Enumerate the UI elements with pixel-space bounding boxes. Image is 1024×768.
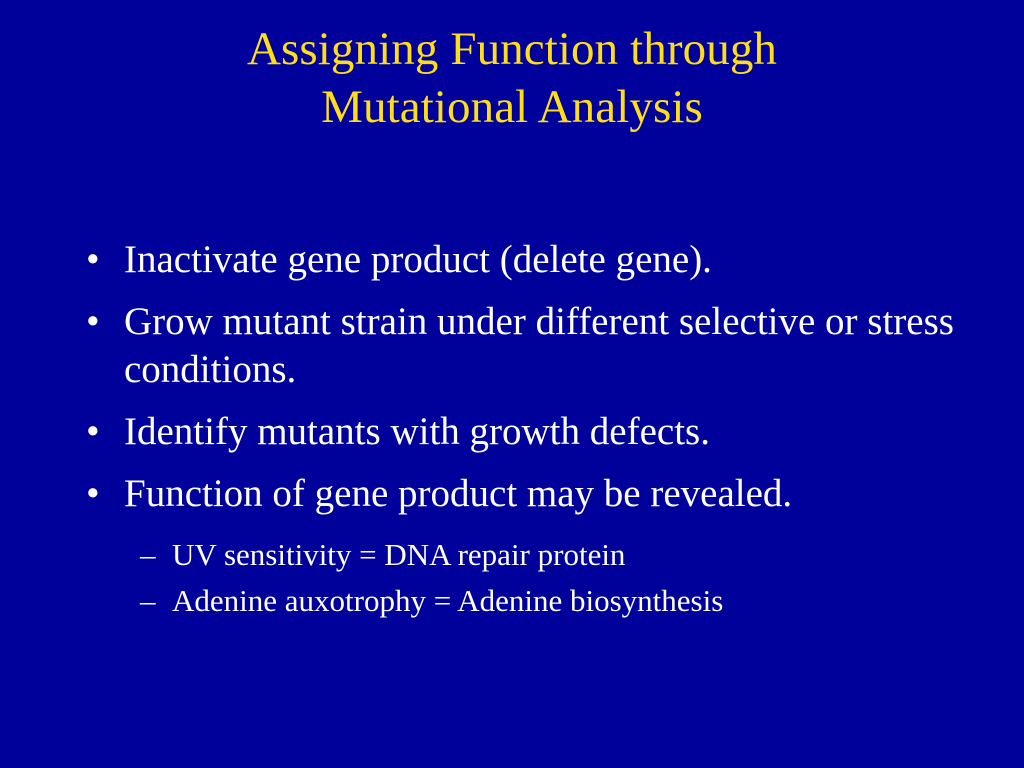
slide-body-content: • Inactivate gene product (delete gene).… <box>80 236 960 624</box>
bullet-dot-icon: • <box>86 470 112 518</box>
dash-icon: – <box>140 532 166 578</box>
bullet-text: Inactivate gene product (delete gene). <box>124 236 960 284</box>
bullet-dot-icon: • <box>86 236 112 284</box>
dash-icon: – <box>140 578 166 624</box>
bullet-text: Grow mutant strain under different selec… <box>124 298 960 394</box>
subbullet-text: Adenine auxotrophy = Adenine biosynthesi… <box>172 578 960 624</box>
bullet-item: • Function of gene product may be reveal… <box>80 470 960 518</box>
subbullet-item: – Adenine auxotrophy = Adenine biosynthe… <box>80 578 960 624</box>
bullet-text: Identify mutants with growth defects. <box>124 408 960 456</box>
bullet-item: • Identify mutants with growth defects. <box>80 408 960 456</box>
presentation-slide: Assigning Function through Mutational An… <box>0 0 1024 768</box>
slide-title: Assigning Function through Mutational An… <box>0 20 1024 136</box>
bullet-item: • Inactivate gene product (delete gene). <box>80 236 960 284</box>
subbullet-text: UV sensitivity = DNA repair protein <box>172 532 960 578</box>
subbullet-group: – UV sensitivity = DNA repair protein – … <box>80 532 960 624</box>
bullet-text: Function of gene product may be revealed… <box>124 470 960 518</box>
bullet-item: • Grow mutant strain under different sel… <box>80 298 960 394</box>
bullet-dot-icon: • <box>86 298 112 346</box>
subbullet-item: – UV sensitivity = DNA repair protein <box>80 532 960 578</box>
bullet-dot-icon: • <box>86 408 112 456</box>
